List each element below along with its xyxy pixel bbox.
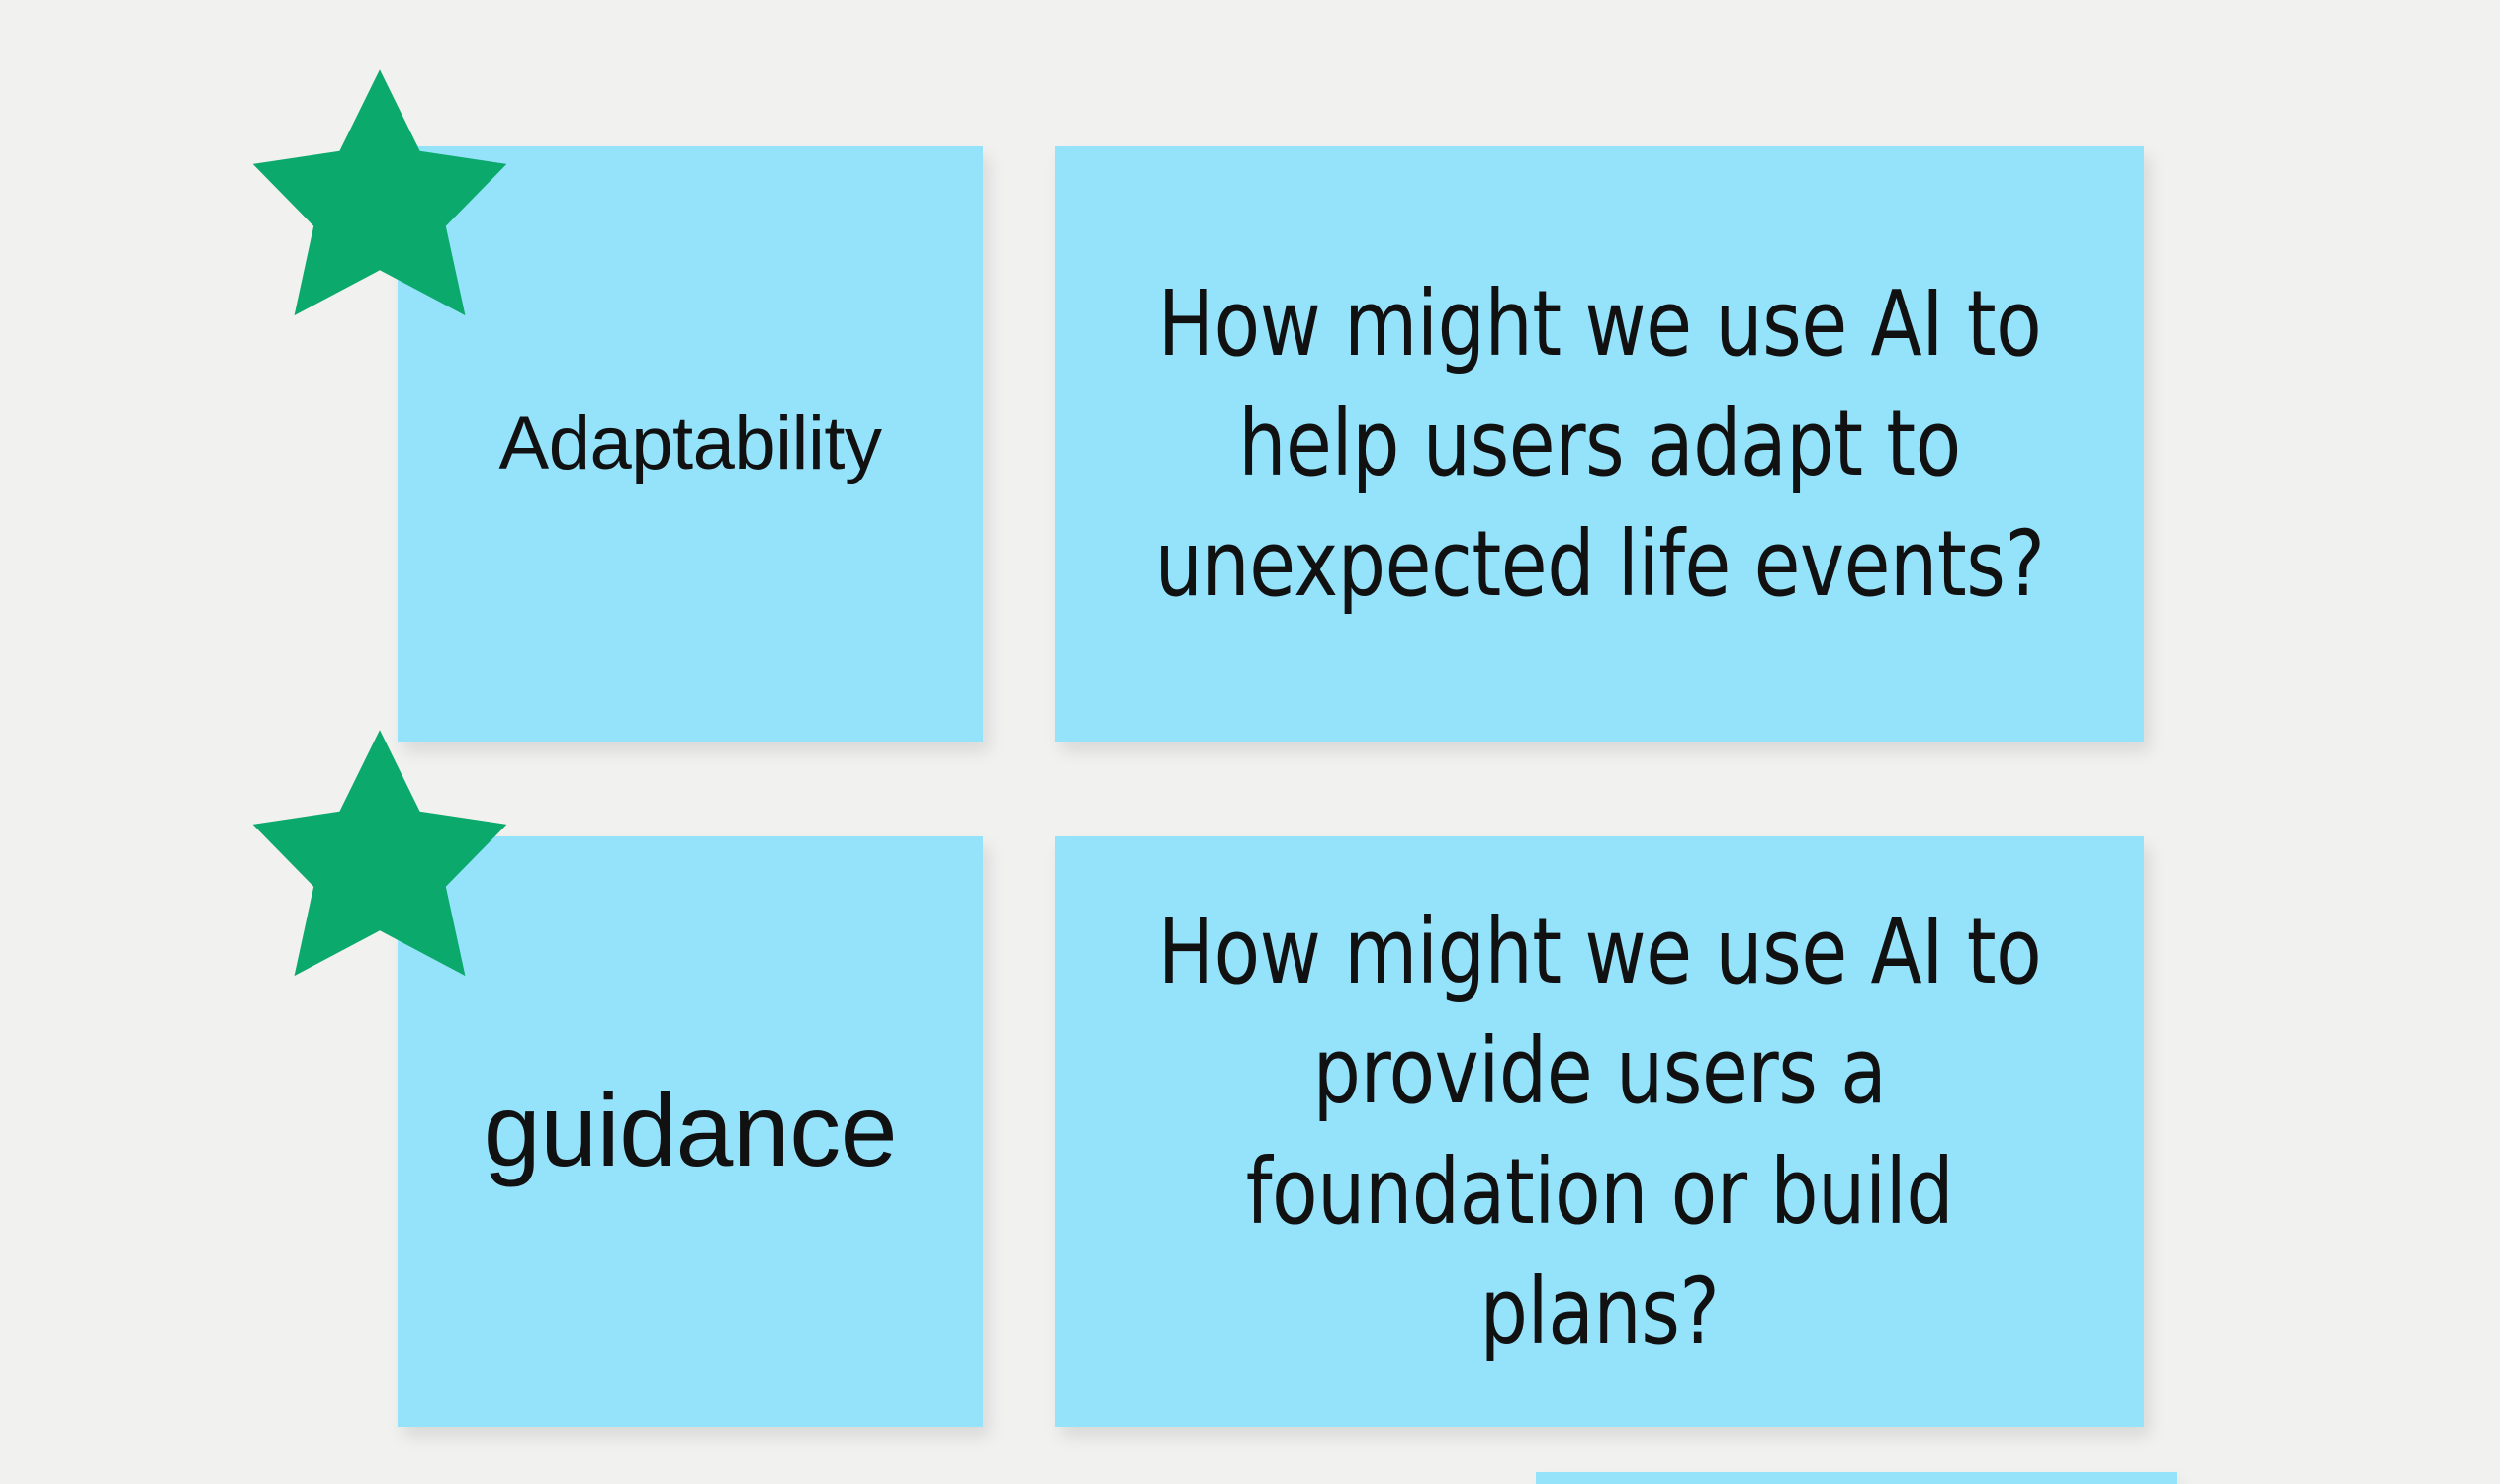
theme-label: guidance bbox=[398, 1073, 983, 1191]
star-icon bbox=[250, 61, 509, 326]
question-card-adaptability[interactable]: How might we use AI to help users adapt … bbox=[1055, 146, 2144, 742]
hmw-board: Adaptability How might we use AI to help… bbox=[0, 0, 2500, 1484]
question-text: How might we use AI to provide users a f… bbox=[1153, 892, 2046, 1372]
question-text: How might we use AI to help users adapt … bbox=[1153, 264, 2046, 624]
question-card-guidance[interactable]: How might we use AI to provide users a f… bbox=[1055, 836, 2144, 1427]
theme-label: Adaptability bbox=[398, 400, 983, 486]
star-icon bbox=[250, 722, 509, 987]
partial-card-below[interactable] bbox=[1536, 1472, 2177, 1484]
